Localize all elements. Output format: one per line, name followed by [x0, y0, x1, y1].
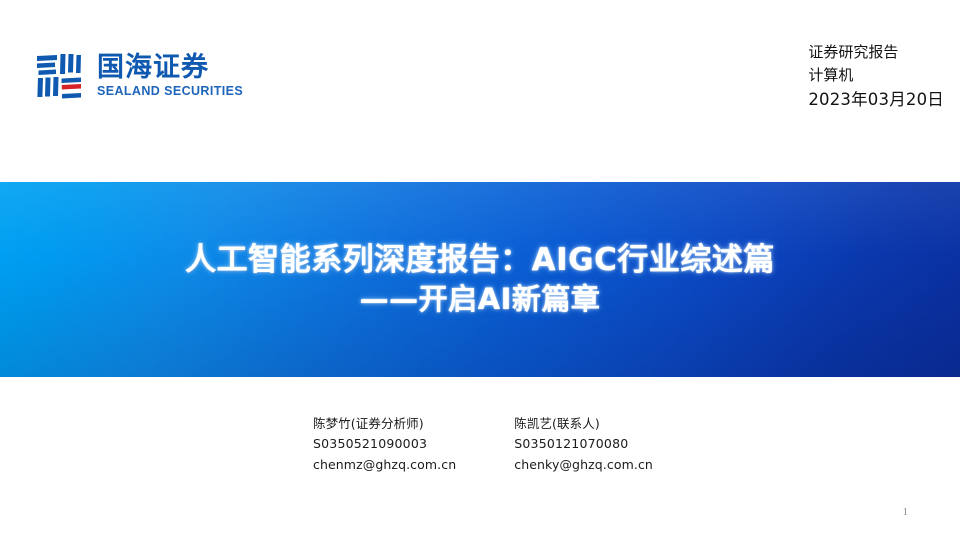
author-name: 陈凯艺(联系人)	[514, 414, 653, 434]
brand-logo: 国海证券 SEALAND SECURITIES	[33, 50, 243, 102]
author-column-contact: 陈凯艺(联系人) S0350121070080 chenky@ghzq.com.…	[514, 414, 653, 475]
brand-name-cn: 国海证券	[97, 53, 243, 82]
report-type-label: 证券研究报告	[808, 41, 944, 64]
author-license-number: S0350521090003	[313, 434, 456, 454]
report-cover-slide: 国海证券 SEALAND SECURITIES 证券研究报告 计算机 2023年…	[0, 0, 960, 540]
author-email[interactable]: chenmz@ghzq.com.cn	[313, 455, 456, 475]
page-number: 1	[903, 506, 909, 518]
sealand-logo-mark-icon	[33, 50, 85, 102]
brand-logo-text: 国海证券 SEALAND SECURITIES	[97, 53, 243, 100]
industry-label: 计算机	[808, 64, 944, 87]
author-email[interactable]: chenky@ghzq.com.cn	[514, 455, 653, 475]
title-banner: 人工智能系列深度报告：AIGC行业综述篇 ——开启AI新篇章	[0, 182, 960, 377]
author-name: 陈梦竹(证券分析师)	[313, 414, 456, 434]
author-license-number: S0350121070080	[514, 434, 653, 454]
cover-header: 国海证券 SEALAND SECURITIES 证券研究报告 计算机 2023年…	[0, 0, 960, 182]
report-title-line-1: 人工智能系列深度报告：AIGC行业综述篇	[185, 242, 775, 279]
brand-name-en: SEALAND SECURITIES	[97, 84, 243, 100]
report-date-label: 2023年03月20日	[808, 87, 944, 112]
title-text-wrap: 人工智能系列深度报告：AIGC行业综述篇 ——开启AI新篇章	[0, 182, 960, 377]
report-title-line-2: ——开启AI新篇章	[360, 282, 601, 317]
authors-block: 陈梦竹(证券分析师) S0350521090003 chenmz@ghzq.co…	[313, 414, 653, 475]
author-column-primary: 陈梦竹(证券分析师) S0350521090003 chenmz@ghzq.co…	[313, 414, 456, 475]
header-meta-block: 证券研究报告 计算机 2023年03月20日	[808, 41, 944, 112]
